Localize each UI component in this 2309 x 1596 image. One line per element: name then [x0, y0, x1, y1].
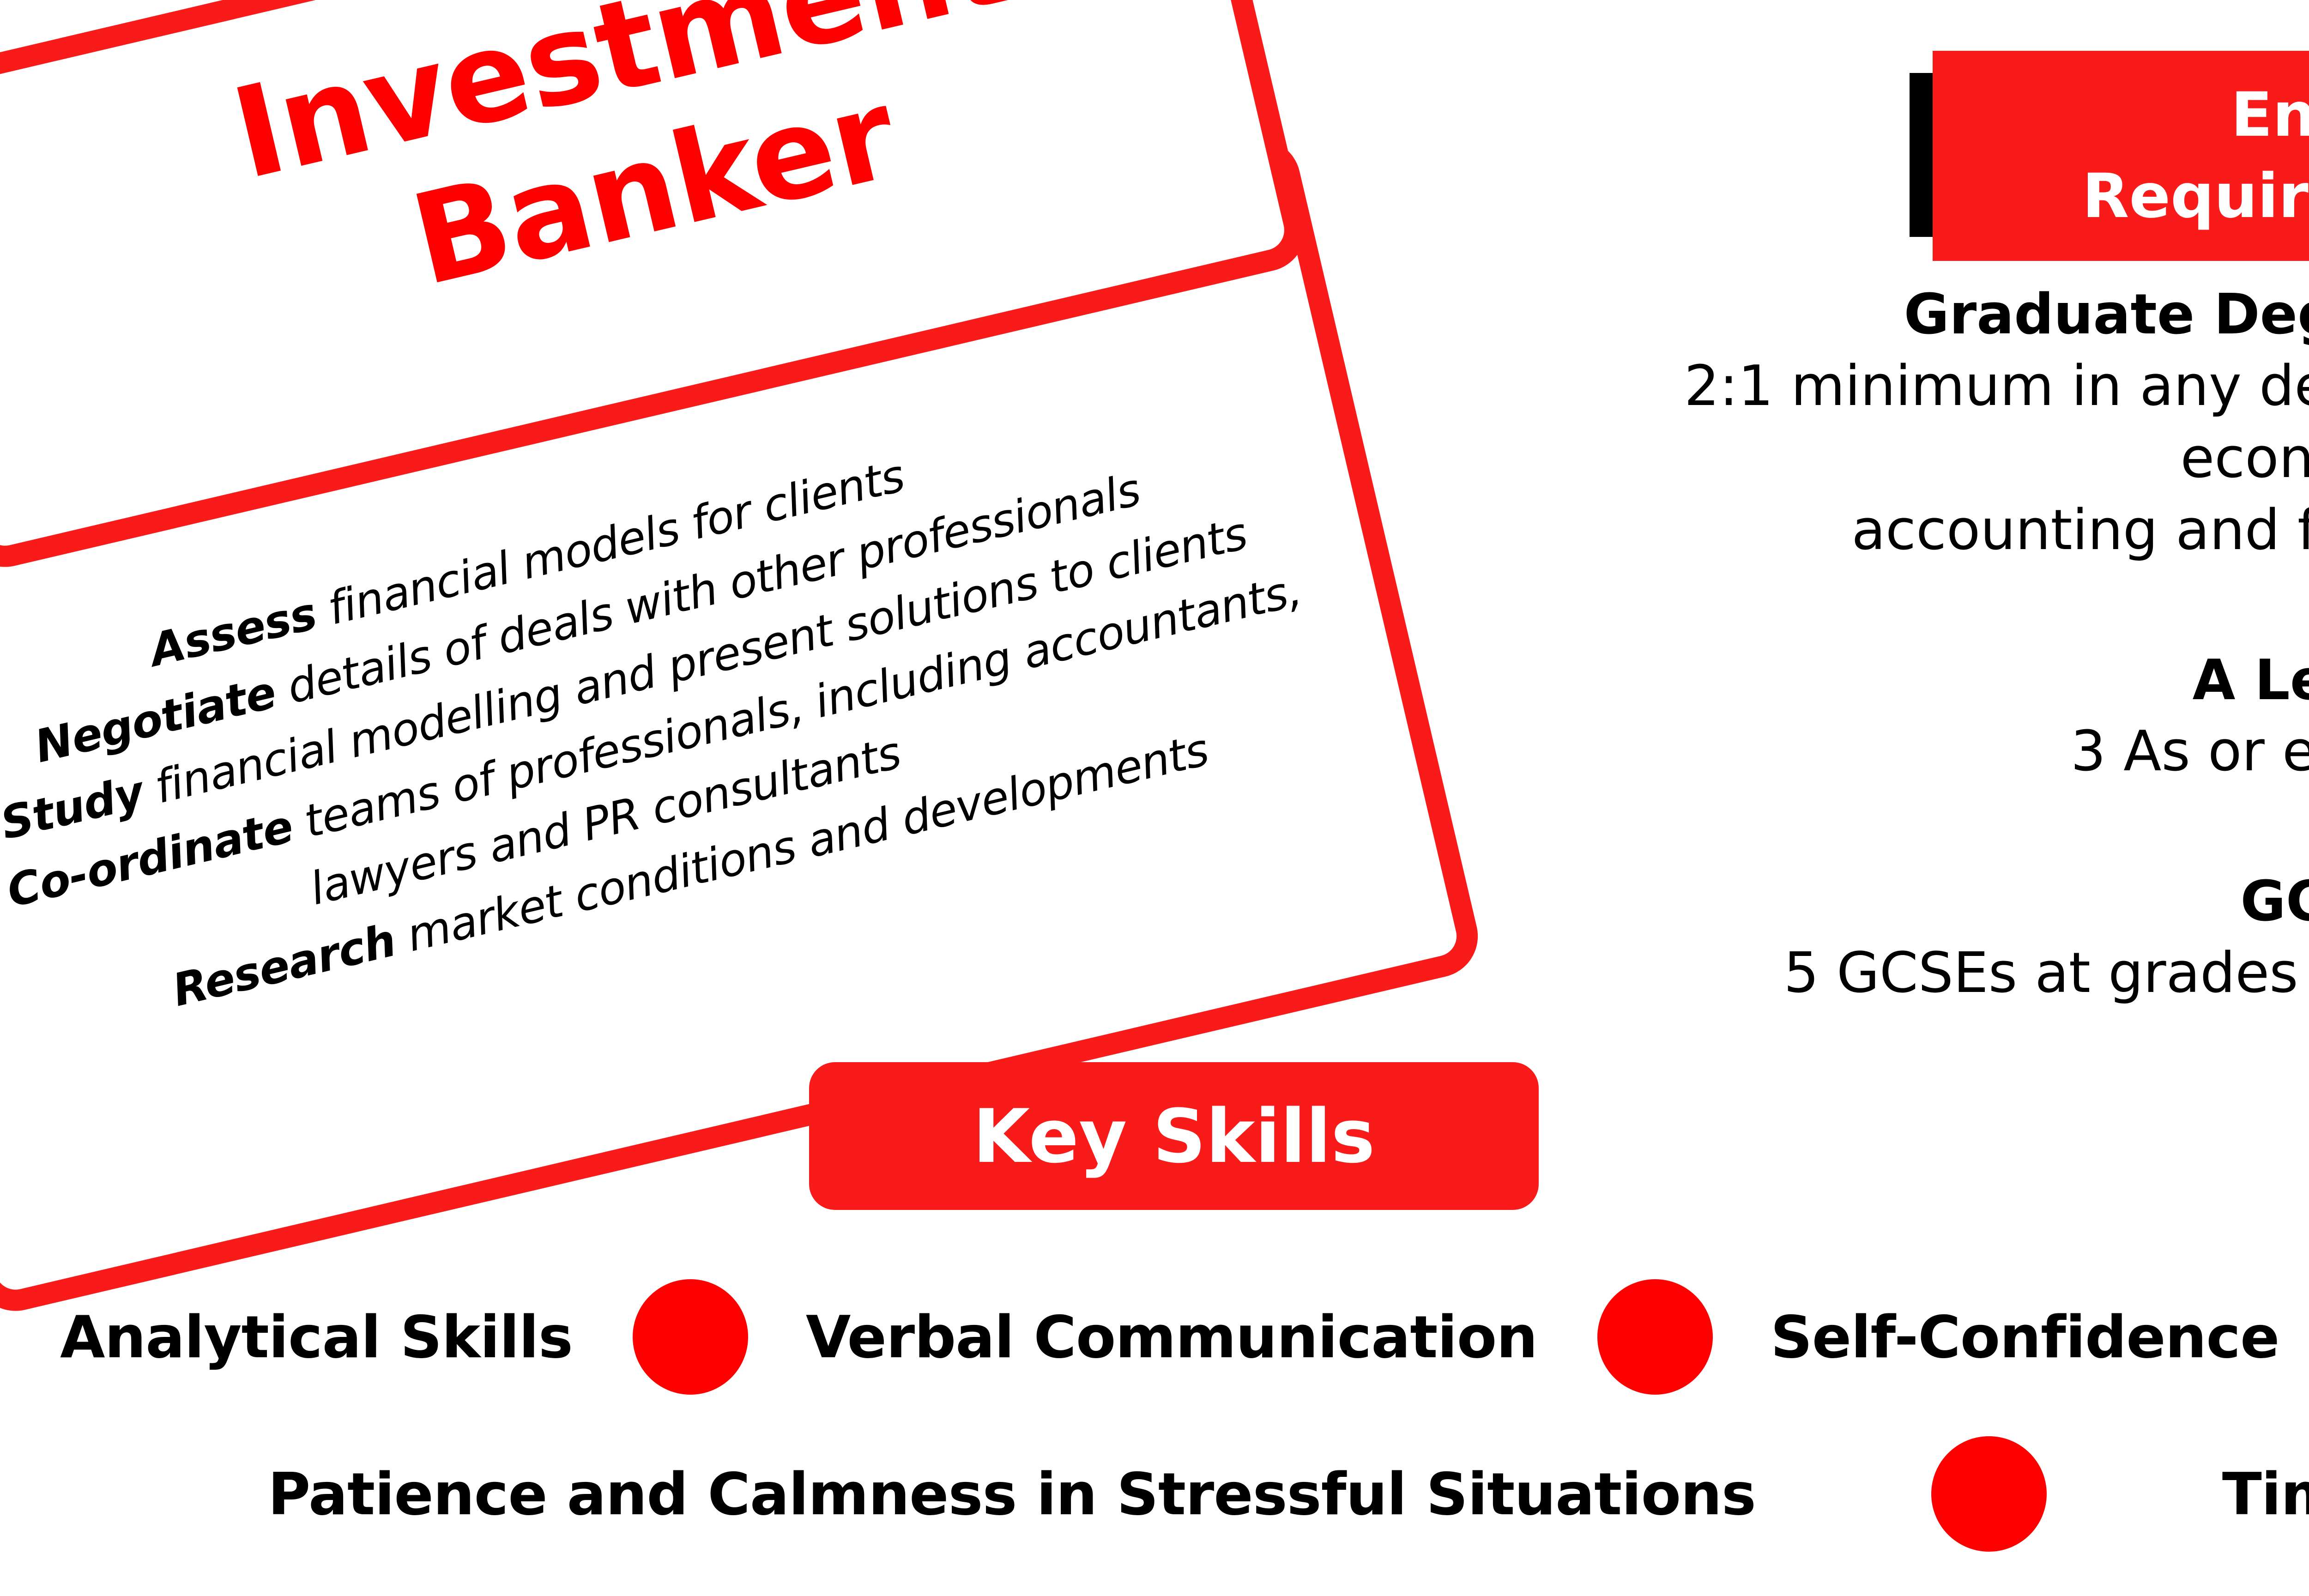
requirement-body-line: 3 As or equivalent [1561, 716, 2309, 788]
skill-item: Time Management [2222, 1460, 2309, 1528]
key-skills-heading-pill: Key Skills [809, 1062, 1539, 1210]
requirement-body-line: 2:1 minimum in any degree, though busine… [1561, 351, 2309, 495]
bullet-dot-icon [633, 1279, 748, 1395]
requirement-heading: A Levels [1561, 645, 2309, 716]
spacer [1561, 788, 2309, 848]
requirement-group-gcse: GCSE 5 GCSEs at grades 9 to 3 or equival… [1561, 866, 2309, 1010]
bullet-dot-icon [1931, 1436, 2047, 1552]
bullet-dot-icon [1597, 1279, 1713, 1395]
skill-item: Patience and Calmness in Stressful Situa… [268, 1460, 1756, 1528]
entry-requirements-section: Entry Requirements Graduate Degree Requi… [1561, 0, 2309, 1016]
badge-label-line-1: Entry [1933, 75, 2309, 156]
requirement-heading: Graduate Degree Required [1561, 279, 2309, 351]
requirement-body-line: 5 GCSEs at grades 9 to 3 or equivalent [1561, 937, 2309, 1010]
infographic-canvas: Investment Banker Assess financial model… [0, 0, 2309, 1596]
key-skills-row-2: Patience and Calmness in Stressful Situa… [268, 1436, 2309, 1552]
badge-bar-left-icon [1910, 73, 1934, 237]
entry-requirements-badge: Entry Requirements [1933, 51, 2309, 261]
key-skills-row-1: Analytical Skills Verbal Communication S… [60, 1279, 2309, 1395]
skill-item: Self-Confidence [1771, 1303, 2279, 1371]
requirement-group-a-levels: A Levels 3 As or equivalent [1561, 645, 2309, 788]
skill-item: Verbal Communication [806, 1303, 1537, 1371]
key-skills-heading-label: Key Skills [973, 1093, 1375, 1179]
badge-label-line-2: Requirements [1933, 156, 2309, 237]
requirement-group-degree: Graduate Degree Required 2:1 minimum in … [1561, 279, 2309, 567]
skill-item: Analytical Skills [60, 1303, 573, 1371]
requirement-heading: GCSE [1561, 866, 2309, 937]
spacer [1561, 567, 2309, 627]
requirement-body-line: accounting and finance are useful [1561, 495, 2309, 567]
entry-requirements-badge-label: Entry Requirements [1933, 51, 2309, 237]
